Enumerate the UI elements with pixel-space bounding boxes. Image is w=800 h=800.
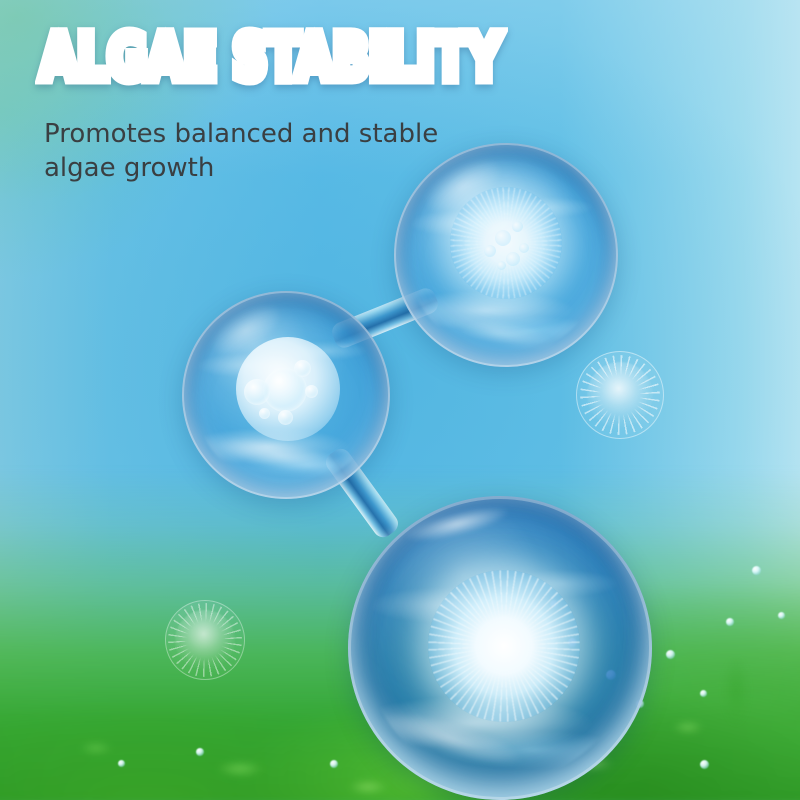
bubble-bottom-large	[348, 496, 652, 800]
radiant-glow-core	[428, 570, 580, 722]
poster-canvas: ALGAE STABILITY ALGAE STABILITY Promotes…	[0, 0, 800, 800]
subtitle-line-1: Promotes balanced and stable	[44, 118, 474, 152]
ghost-bubble-lower-left	[165, 600, 245, 680]
microbe-body	[450, 187, 562, 299]
inner-cell	[278, 410, 293, 425]
inner-cell	[294, 360, 311, 377]
ghost-bubble-right	[576, 351, 664, 439]
cell-cluster-core	[236, 337, 340, 441]
page-title-fill: ALGAE STABILITY	[40, 21, 564, 94]
microbe-core-glow	[450, 187, 562, 299]
glow-burst-rays	[428, 570, 580, 722]
subtitle-block: Promotes balanced and stable algae growt…	[44, 118, 474, 186]
subtitle-line-2: algae growth	[44, 152, 474, 186]
headline-block: ALGAE STABILITY ALGAE STABILITY	[40, 26, 600, 89]
inner-cell	[259, 408, 270, 419]
bubble-middle-left	[182, 291, 390, 499]
page-title: ALGAE STABILITY ALGAE STABILITY	[40, 26, 564, 89]
inner-cell	[244, 379, 270, 405]
inner-cell	[305, 385, 318, 398]
